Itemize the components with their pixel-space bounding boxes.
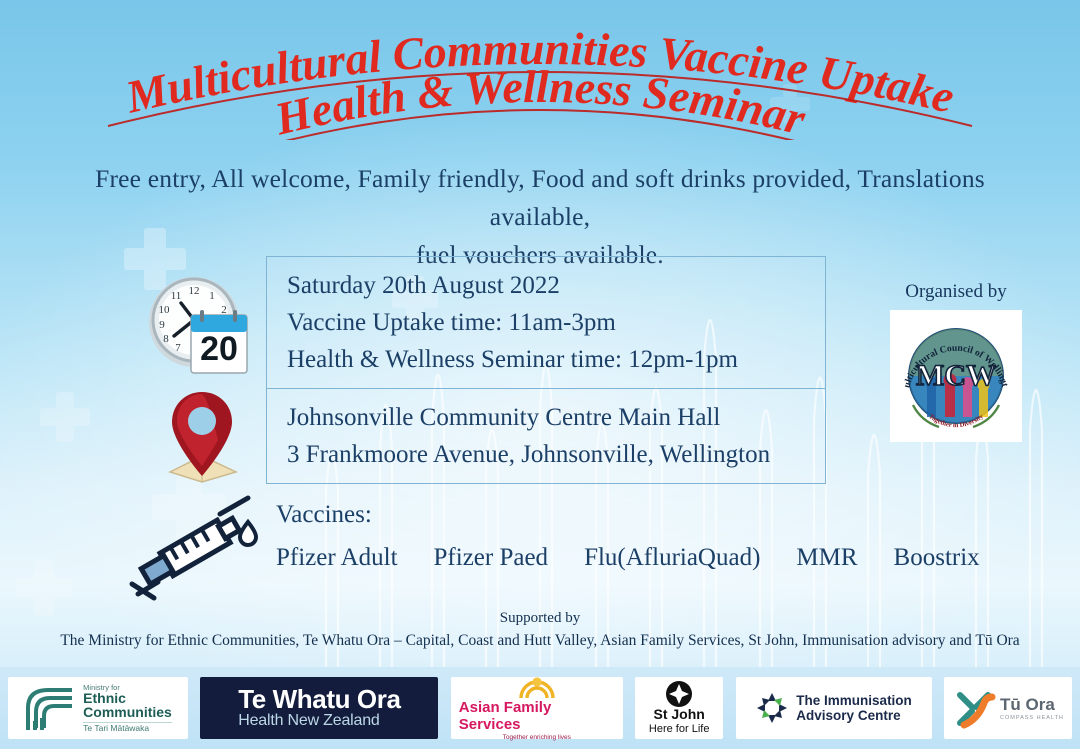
event-info-boxes: Saturday 20th August 2022 Vaccine Uptake… (266, 256, 826, 484)
st-john-line-1: St John (654, 707, 705, 722)
imac-burst-icon (755, 691, 789, 725)
logo-asian-family-services: Asian Family Services Together enriching… (451, 677, 623, 739)
svg-text:9: 9 (159, 319, 165, 331)
tu-ora-line-2: COMPASS HEALTH (1000, 715, 1064, 721)
st-john-line-2: Here for Life (649, 723, 710, 735)
venue-name: Johnsonville Community Centre Main Hall (287, 399, 825, 436)
tu-ora-mark-icon (952, 687, 996, 729)
te-whatu-ora-line-2: Health New Zealand (238, 713, 400, 730)
afs-line-1: Asian Family Services (459, 699, 615, 733)
syringe-icon (124, 492, 264, 607)
mcw-logo-artwork: Multicultural Council of Wellington MCW … (893, 313, 1019, 439)
event-date: Saturday 20th August 2022 (287, 267, 825, 304)
title-artwork: Multicultural Communities Vaccine Uptake… (50, 14, 1030, 140)
afs-line-2: Together enriching lives (503, 734, 571, 741)
logo-ministry-ethnic-communities: Ministry for Ethnic Communities Te Tari … (8, 677, 188, 739)
supporters-list: The Ministry for Ethnic Communities, Te … (0, 630, 1080, 652)
seminar-time: Health & Wellness Seminar time: 12pm-1pm (287, 341, 825, 378)
clock-calendar-icon: 1212 345 678 91011 20 (136, 272, 256, 377)
svg-text:7: 7 (175, 342, 181, 354)
organised-by-label: Organised by (876, 280, 1036, 304)
datetime-box: Saturday 20th August 2022 Vaccine Uptake… (267, 257, 825, 389)
svg-text:10: 10 (159, 304, 171, 316)
svg-text:2: 2 (221, 304, 227, 316)
organised-by-section: Organised by (876, 280, 1036, 442)
calendar-day-number: 20 (200, 330, 238, 368)
vaccine-item: Pfizer Adult (276, 538, 398, 578)
st-john-cross-icon (666, 681, 692, 707)
vaccine-item: MMR (796, 538, 857, 578)
svg-text:8: 8 (163, 333, 169, 345)
vaccines-section: Vaccines: Pfizer Adult Pfizer Paed Flu(A… (276, 498, 1036, 578)
logo-tu-ora: Tū Ora COMPASS HEALTH (944, 677, 1072, 739)
svg-text:11: 11 (171, 290, 182, 302)
moec-line-4: Te Tari Mātāwaka (83, 722, 172, 733)
mcw-acronym: MCW (916, 359, 996, 392)
supported-by-section: Supported by The Ministry for Ethnic Com… (0, 608, 1080, 652)
te-whatu-ora-line-1: Te Whatu Ora (238, 686, 400, 713)
ethnic-communities-mark-icon (24, 684, 76, 732)
imac-line-1: The Immunisation (796, 693, 912, 708)
vaccine-uptake-time: Vaccine Uptake time: 11am-3pm (287, 304, 825, 341)
imac-line-2: Advisory Centre (796, 708, 900, 723)
vaccine-item: Boostrix (894, 538, 980, 578)
moec-line-3: Communities (83, 705, 172, 719)
venue-address: 3 Frankmoore Avenue, Johnsonville, Welli… (287, 436, 825, 473)
vaccine-item: Flu(AfluriaQuad) (584, 538, 760, 578)
vaccines-list: Pfizer Adult Pfizer Paed Flu(AfluriaQuad… (276, 538, 1036, 578)
svg-text:12: 12 (189, 285, 200, 297)
tu-ora-line-1: Tū Ora (1000, 695, 1055, 714)
moec-line-2: Ethnic (83, 691, 172, 705)
sponsor-logo-bar: Ministry for Ethnic Communities Te Tari … (0, 667, 1080, 749)
medical-cross-icon (40, 392, 90, 442)
supported-by-label: Supported by (0, 608, 1080, 628)
mcw-logo: Multicultural Council of Wellington MCW … (890, 310, 1022, 442)
afs-arcs-icon (516, 675, 558, 699)
venue-box: Johnsonville Community Centre Main Hall … (267, 389, 825, 483)
vaccines-label: Vaccines: (276, 498, 1036, 532)
logo-immunisation-advisory-centre: The Immunisation Advisory Centre (736, 677, 932, 739)
svg-text:1: 1 (209, 290, 215, 302)
subtitle-line-1: Free entry, All welcome, Family friendly… (95, 164, 985, 231)
logo-te-whatu-ora: Te Whatu Ora Health New Zealand (200, 677, 438, 739)
logo-st-john: St John Here for Life (635, 677, 723, 739)
vaccine-item: Pfizer Paed (434, 538, 549, 578)
location-pin-icon (150, 386, 255, 486)
poster-canvas: Multicultural Communities Vaccine Uptake… (0, 0, 1080, 749)
poster-title: Multicultural Communities Vaccine Uptake… (0, 14, 1080, 144)
